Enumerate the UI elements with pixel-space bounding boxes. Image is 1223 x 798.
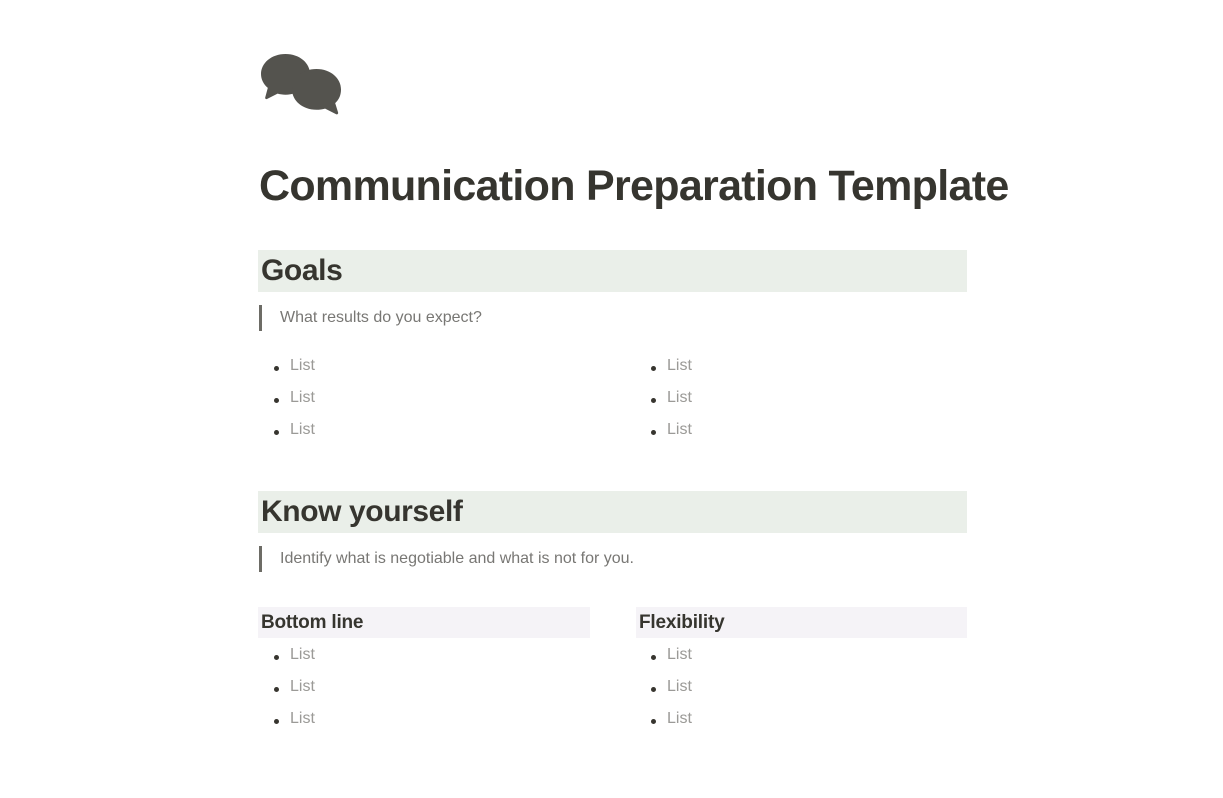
list-item[interactable]: List bbox=[651, 354, 981, 386]
list-item-label: List bbox=[667, 354, 692, 378]
list-item-label: List bbox=[667, 675, 692, 699]
bullet-dot-icon bbox=[651, 719, 656, 724]
subheading-flexibility: Flexibility bbox=[636, 607, 967, 638]
list-item-label: List bbox=[290, 643, 315, 667]
list-item-label: List bbox=[667, 418, 692, 442]
list-item-label: List bbox=[290, 386, 315, 410]
bullet-dot-icon bbox=[274, 398, 279, 403]
quote-bar bbox=[259, 305, 262, 331]
subheading-label: Flexibility bbox=[639, 610, 724, 635]
bullet-dot-icon bbox=[274, 655, 279, 660]
list-item[interactable]: List bbox=[274, 418, 604, 450]
list-item-label: List bbox=[667, 643, 692, 667]
bullet-dot-icon bbox=[274, 366, 279, 371]
document-page: Communication Preparation Template Goals… bbox=[0, 0, 1223, 798]
list-item[interactable]: List bbox=[274, 643, 584, 675]
goals-list-left: List List List bbox=[274, 354, 604, 450]
list-item-label: List bbox=[290, 707, 315, 731]
list-item-label: List bbox=[290, 418, 315, 442]
section-heading-know-yourself: Know yourself bbox=[258, 491, 967, 533]
flexibility-list: List List List bbox=[651, 643, 961, 739]
list-item[interactable]: List bbox=[651, 386, 981, 418]
goals-list-right: List List List bbox=[651, 354, 981, 450]
list-item[interactable]: List bbox=[274, 386, 604, 418]
bottom-line-list: List List List bbox=[274, 643, 584, 739]
page-title: Communication Preparation Template bbox=[259, 159, 1159, 213]
section-heading-label: Goals bbox=[261, 254, 342, 288]
list-item[interactable]: List bbox=[651, 418, 981, 450]
list-item[interactable]: List bbox=[274, 707, 584, 739]
section-heading-label: Know yourself bbox=[261, 495, 463, 529]
list-item-label: List bbox=[290, 354, 315, 378]
list-item-label: List bbox=[667, 707, 692, 731]
bullet-dot-icon bbox=[651, 687, 656, 692]
subheading-bottom-line: Bottom line bbox=[258, 607, 590, 638]
list-item[interactable]: List bbox=[651, 675, 961, 707]
list-item[interactable]: List bbox=[651, 707, 961, 739]
list-item-label: List bbox=[290, 675, 315, 699]
subheading-label: Bottom line bbox=[261, 610, 363, 635]
list-item[interactable]: List bbox=[274, 354, 604, 386]
quote-bar bbox=[259, 546, 262, 572]
bullet-dot-icon bbox=[651, 430, 656, 435]
bullet-dot-icon bbox=[274, 430, 279, 435]
section-heading-goals: Goals bbox=[258, 250, 967, 292]
bullet-dot-icon bbox=[274, 719, 279, 724]
bullet-dot-icon bbox=[651, 366, 656, 371]
bullet-dot-icon bbox=[274, 687, 279, 692]
list-item[interactable]: List bbox=[651, 643, 961, 675]
quote-text: What results do you expect? bbox=[280, 306, 482, 330]
list-item[interactable]: List bbox=[274, 675, 584, 707]
list-item-label: List bbox=[667, 386, 692, 410]
quote-text: Identify what is negotiable and what is … bbox=[280, 547, 634, 571]
bullet-dot-icon bbox=[651, 655, 656, 660]
speech-bubbles-icon bbox=[259, 52, 345, 116]
bullet-dot-icon bbox=[651, 398, 656, 403]
